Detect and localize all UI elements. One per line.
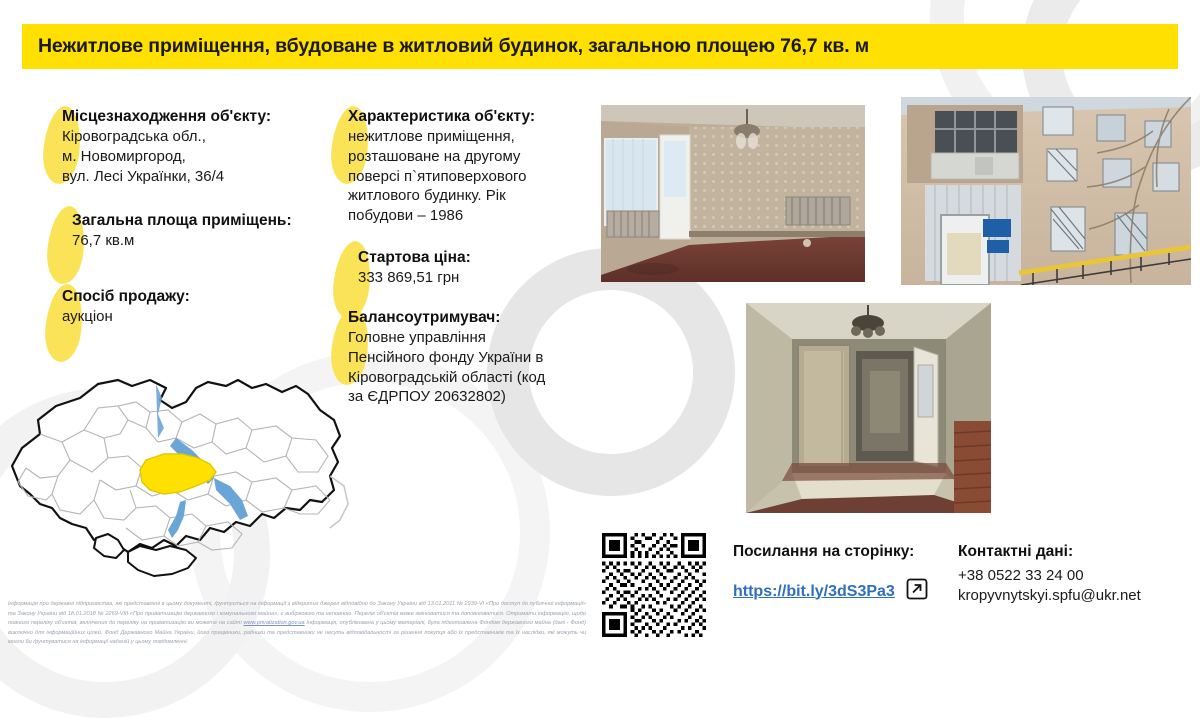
location-line: Кіровоградська обл.,: [62, 127, 271, 147]
total-area-value: 76,7 кв.м: [72, 231, 292, 251]
balance-holder-line: Кіровоградській області (код: [348, 368, 545, 388]
location-line: м. Новомиргород,: [62, 147, 271, 167]
characteristic-line: побудови – 1986: [348, 206, 535, 226]
contact-label: Контактні дані:: [958, 543, 1141, 561]
start-price-line: 333 869,51 грн: [358, 268, 471, 288]
characteristic-line: розташоване на другому: [348, 147, 535, 167]
characteristic-value: нежитлове приміщення, розташоване на дру…: [348, 127, 535, 226]
external-link-icon[interactable]: [905, 577, 929, 606]
sale-method-heading: Спосіб продажу:: [62, 288, 190, 307]
page-link-url[interactable]: https://bit.ly/3dS3Pa3: [733, 583, 895, 601]
page-link-row[interactable]: https://bit.ly/3dS3Pa3: [733, 577, 929, 606]
photo-building-facade: [901, 97, 1191, 285]
privatization-site-link[interactable]: www.privatization.gov.ua: [243, 620, 304, 626]
contact-block: Контактні дані: +38 0522 33 24 00 kropyv…: [958, 543, 1141, 607]
photo-empty-room: [601, 105, 865, 282]
balance-holder-line: за ЄДРПОУ 20632802): [348, 387, 545, 407]
contact-email: kropyvnytskyi.spfu@ukr.net: [958, 586, 1141, 606]
start-price-value: 333 869,51 грн: [358, 268, 471, 288]
info-block-location: Місцезнаходження об'єкту: Кіровоградська…: [62, 108, 271, 186]
disclaimer-text: Інформація про державні підприємства, як…: [8, 600, 586, 648]
total-area-heading: Загальна площа приміщень:: [72, 212, 292, 231]
characteristic-line: житлового будинку. Рік: [348, 186, 535, 206]
balance-holder-heading: Балансоутримувач:: [348, 309, 545, 328]
sale-method-value: аукціон: [62, 307, 190, 327]
sale-method-line: аукціон: [62, 307, 190, 327]
location-heading: Місцезнаходження об'єкту:: [62, 108, 271, 127]
header-banner: Нежитлове приміщення, вбудоване в житлов…: [22, 24, 1178, 69]
balance-holder-value: Головне управління Пенсійного фонду Укра…: [348, 328, 545, 407]
info-block-balance-holder: Балансоутримувач: Головне управління Пен…: [348, 309, 545, 407]
characteristic-line: нежитлове приміщення,: [348, 127, 535, 147]
page-link-block: Посилання на сторінку: https://bit.ly/3d…: [733, 543, 929, 606]
info-block-characteristic: Характеристика об'єкту: нежитлове приміщ…: [348, 108, 535, 226]
info-block-sale-method: Спосіб продажу: аукціон: [62, 288, 190, 327]
characteristic-heading: Характеристика об'єкту:: [348, 108, 535, 127]
info-block-start-price: Стартова ціна: 333 869,51 грн: [358, 249, 471, 288]
balance-holder-line: Головне управління: [348, 328, 545, 348]
ukraine-map: [0, 368, 360, 600]
photo-corridor: [746, 303, 991, 513]
location-line: вул. Лесі Українки, 36/4: [62, 167, 271, 187]
page-link-label: Посилання на сторінку:: [733, 543, 929, 561]
start-price-heading: Стартова ціна:: [358, 249, 471, 268]
characteristic-line: поверсі п`ятиповерхового: [348, 167, 535, 187]
qr-code[interactable]: [602, 533, 706, 637]
info-block-total-area: Загальна площа приміщень: 76,7 кв.м: [72, 212, 292, 251]
balance-holder-line: Пенсійного фонду України в: [348, 348, 545, 368]
contact-phone: +38 0522 33 24 00: [958, 566, 1141, 586]
location-value: Кіровоградська обл., м. Новомиргород, ву…: [62, 127, 271, 186]
page-title: Нежитлове приміщення, вбудоване в житлов…: [22, 35, 869, 58]
total-area-line: 76,7 кв.м: [72, 231, 292, 251]
